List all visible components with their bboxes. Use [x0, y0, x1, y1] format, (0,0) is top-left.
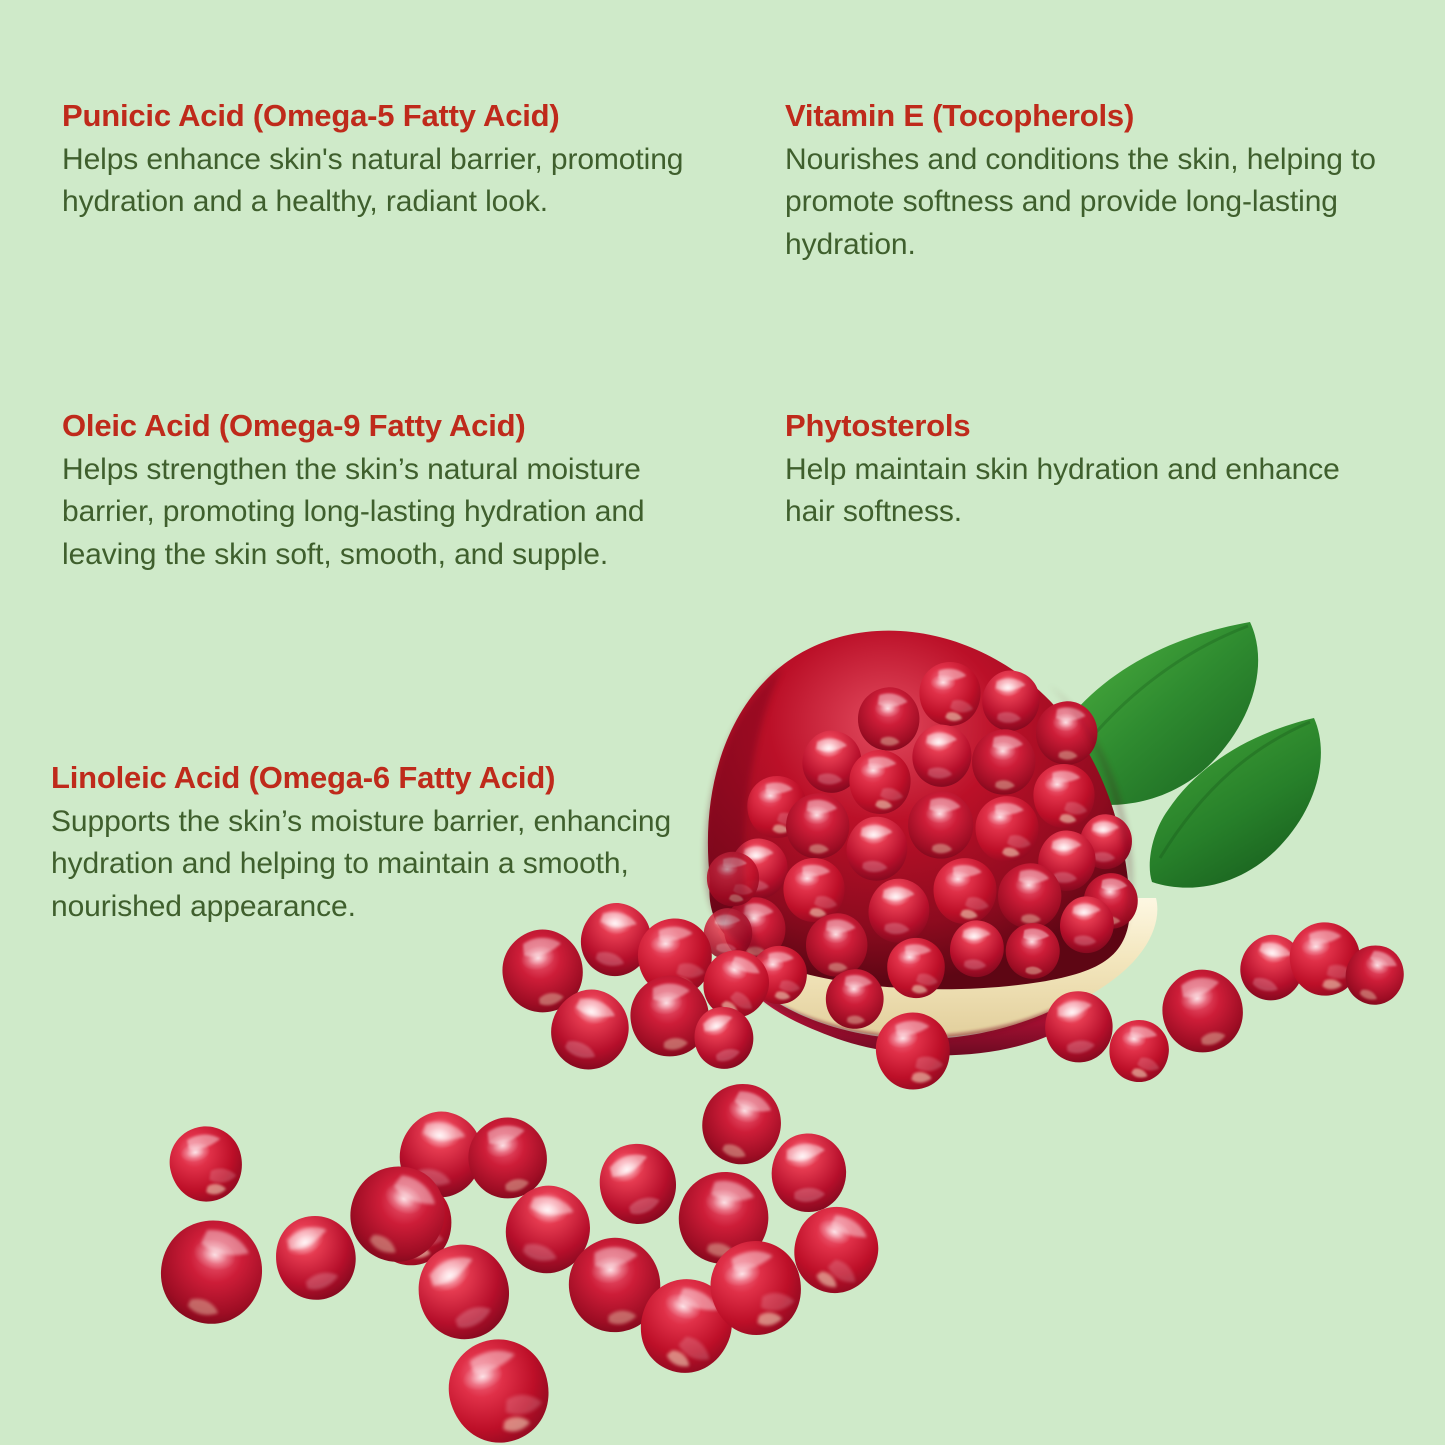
benefit-block-linoleic-acid: Linoleic Acid (Omega-6 Fatty Acid) Suppo…	[51, 760, 691, 928]
benefit-title: Oleic Acid (Omega-9 Fatty Acid)	[62, 408, 682, 445]
benefit-block-vitamin-e: Vitamin E (Tocopherols) Nourishes and co…	[785, 98, 1395, 266]
benefit-title: Linoleic Acid (Omega-6 Fatty Acid)	[51, 760, 691, 797]
pomegranate-aril-icon	[871, 919, 1412, 1094]
pomegranate-wedge-icon	[704, 631, 1158, 1056]
benefit-block-phytosterols: Phytosterols Help maintain skin hydratio…	[785, 408, 1395, 534]
benefit-title: Punicic Acid (Omega-5 Fatty Acid)	[62, 98, 702, 135]
benefit-title: Vitamin E (Tocopherols)	[785, 98, 1395, 135]
benefit-description: Help maintain skin hydration and enhance…	[785, 449, 1395, 534]
benefit-block-punicic-acid: Punicic Acid (Omega-5 Fatty Acid) Helps …	[62, 98, 702, 224]
benefit-block-oleic-acid: Oleic Acid (Omega-9 Fatty Acid) Helps st…	[62, 408, 682, 576]
benefit-title: Phytosterols	[785, 408, 1395, 445]
benefit-description: Supports the skin’s moisture barrier, en…	[51, 801, 691, 929]
benefit-description: Helps enhance skin's natural barrier, pr…	[62, 139, 702, 224]
benefit-description: Nourishes and conditions the skin, helpi…	[785, 139, 1395, 267]
benefit-description: Helps strengthen the skin’s natural mois…	[62, 449, 682, 577]
pomegranate-aril-icon	[149, 1073, 892, 1445]
pomegranate-benefits-infographic: Punicic Acid (Omega-5 Fatty Acid) Helps …	[0, 0, 1445, 1445]
pomegranate-leaf-icon	[1051, 622, 1321, 888]
